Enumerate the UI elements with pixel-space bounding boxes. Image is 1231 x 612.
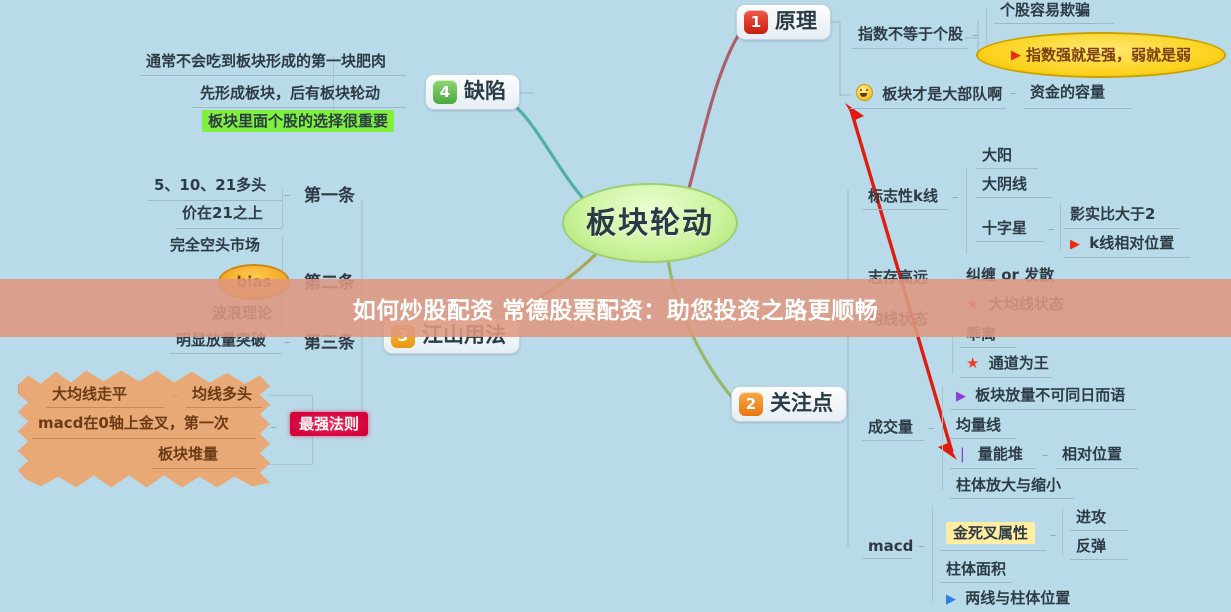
kline-child-3[interactable]: 十字星	[978, 219, 1031, 240]
branch-label-principle: 原理	[775, 10, 817, 33]
kline-child-1-rule	[976, 168, 1038, 169]
focus-kline[interactable]: 标志性k线	[864, 187, 942, 208]
focus-volume-rule	[862, 440, 924, 441]
kline-child-2[interactable]: 大阴线	[978, 175, 1031, 196]
branch-node-focus[interactable]: 2 关注点	[731, 386, 847, 422]
smiley-icon	[856, 84, 873, 101]
play-triangle-blue-icon: ▶	[946, 592, 956, 607]
usage-1a-rule	[148, 200, 282, 201]
volume-grandchild-1[interactable]: 相对位置	[1058, 445, 1126, 466]
usage-dash-3: –	[284, 335, 291, 350]
macd-grandchild-1[interactable]: 进攻	[1072, 508, 1110, 529]
law-child-3[interactable]: 板块堆量	[154, 445, 222, 466]
kline-child-2-rule	[976, 197, 1052, 198]
kline-child-3-rule	[976, 241, 1044, 242]
volume-child-4-rule	[950, 498, 1074, 499]
volume-child-3-dash: –	[1042, 448, 1049, 463]
volume-child-1[interactable]: ▶ 板块放量不可同日而语	[952, 386, 1129, 407]
macd-grandchild-2-rule	[1070, 559, 1128, 560]
focus-volume[interactable]: 成交量	[864, 418, 917, 439]
branch-label-defects: 缺陷	[464, 80, 506, 103]
defects-child-rule-1	[140, 75, 406, 76]
branch-label-focus: 关注点	[770, 392, 833, 415]
central-topic-label: 板块轮动	[586, 207, 714, 240]
play-triangle-red-icon: ▶	[1011, 49, 1021, 62]
central-topic: 板块轮动	[562, 183, 738, 263]
law-dash-1: –	[172, 388, 179, 403]
volume-child-3-label: 量能堆	[978, 445, 1023, 463]
ma-child-3-rule	[960, 347, 1016, 348]
principle-child-1-rule	[852, 48, 968, 49]
defects-child-rule-2	[192, 107, 406, 108]
macd-child-1-label: 金死叉属性	[946, 522, 1035, 544]
law-child-2-rule	[32, 438, 256, 439]
volume-child-3[interactable]: ❘ 量能堆	[952, 445, 1027, 466]
volume-child-2-rule	[950, 438, 1016, 439]
macd-child-2-rule	[940, 582, 1012, 583]
play-triangle-purple-icon: ▶	[956, 389, 966, 404]
defects-child-3-label: 板块里面个股的选择很重要	[202, 110, 394, 132]
defects-child-2[interactable]: 先形成板块，后有板块轮动	[196, 84, 384, 105]
ma-child-4-rule	[960, 377, 1052, 378]
law-child-1b-rule	[186, 407, 262, 408]
usage-3a-rule	[170, 353, 282, 354]
usage-2a[interactable]: 完全空头市场	[166, 236, 264, 257]
focus-macd[interactable]: macd	[864, 537, 917, 558]
kline-grandchild-1-rule	[1064, 228, 1180, 229]
kline-grandchild-2-label: k线相对位置	[1089, 234, 1174, 252]
macd-child-1-dash: –	[1050, 528, 1057, 543]
defects-child-3[interactable]: 板块里面个股的选择很重要	[198, 112, 398, 133]
kline-grandchild-1[interactable]: 影实比大于2	[1066, 205, 1159, 226]
principle-child-1b-label: 指数强就是强，弱就是弱	[1026, 47, 1191, 64]
kline-child-1[interactable]: 大阳	[978, 146, 1016, 167]
principle-child-2-rule	[850, 108, 1006, 109]
ma-child-4[interactable]: ★ 通道为王	[962, 354, 1053, 375]
principle-child-2a-rule	[1024, 108, 1132, 109]
kline-grandchild-2-rule	[1064, 257, 1190, 258]
usage-1a[interactable]: 5、10、21多头	[150, 176, 270, 197]
law-child-1-rule	[46, 407, 164, 408]
law-child-2[interactable]: macd在0轴上金叉，第一次	[34, 414, 233, 435]
law-child-1[interactable]: 大均线走平	[48, 385, 131, 406]
usage-1b[interactable]: 价在21之上	[178, 204, 267, 225]
volume-grandchild-1-rule	[1056, 468, 1138, 469]
kline-child-3-dash: –	[1048, 222, 1055, 237]
principle-child-1b[interactable]: ▶ 指数强就是强，弱就是弱	[976, 32, 1226, 78]
usage-item-1[interactable]: 第一条	[300, 186, 359, 209]
focus-macd-bracket	[932, 506, 949, 602]
law-dash-main: –	[270, 420, 277, 435]
macd-child-3-label: 两线与柱体位置	[965, 589, 1070, 607]
ma-child-4-label: 通道为王	[989, 354, 1049, 372]
branch-node-principle[interactable]: 1 原理	[736, 4, 831, 40]
focus-kline-rule	[862, 209, 948, 210]
principle-child-2[interactable]: 板块才是大部队啊	[852, 83, 1006, 106]
principle-child-2a[interactable]: 资金的容量	[1026, 83, 1109, 104]
principle-child-1a[interactable]: 个股容易欺骗	[996, 1, 1094, 22]
macd-grandchild-1-rule	[1070, 530, 1128, 531]
focus-macd-rule	[862, 558, 912, 559]
branch-badge-1: 1	[744, 10, 768, 34]
promo-banner-text: 如何炒股配资 常德股票配资：助您投资之路更顺畅	[353, 291, 879, 325]
principle-dash-2: –	[1010, 86, 1017, 101]
macd-child-3[interactable]: ▶ 两线与柱体位置	[942, 589, 1074, 610]
principle-child-1a-rule	[994, 23, 1114, 24]
strongest-law-label: 最强法则	[290, 412, 368, 436]
usage-dash-1: –	[284, 188, 291, 203]
macd-child-1-rule	[940, 550, 1046, 551]
principle-dash-1: –	[972, 28, 979, 43]
focus-volume-dash: –	[928, 421, 935, 436]
volume-child-4[interactable]: 柱体放大与缩小	[952, 476, 1065, 497]
play-triangle-red-icon-2: ▶	[1070, 237, 1080, 252]
strongest-law-node[interactable]: 最强法则	[286, 415, 372, 436]
branch-badge-2: 2	[739, 392, 763, 416]
volume-child-2[interactable]: 均量线	[952, 416, 1005, 437]
principle-child-1[interactable]: 指数不等于个股	[854, 25, 967, 46]
branch-node-defects[interactable]: 4 缺陷	[425, 74, 520, 110]
macd-child-2[interactable]: 柱体面积	[942, 560, 1010, 581]
promo-banner: 如何炒股配资 常德股票配资：助您投资之路更顺畅	[0, 279, 1231, 337]
volume-child-3-rule	[950, 468, 1036, 469]
focus-kline-dash: –	[952, 190, 959, 205]
macd-child-1[interactable]: 金死叉属性	[942, 524, 1039, 545]
volume-child-1-label: 板块放量不可同日而语	[975, 386, 1125, 404]
focus-macd-dash: –	[918, 539, 925, 554]
bar-purple-icon: ❘	[956, 445, 969, 463]
kline-grandchild-2[interactable]: ▶ k线相对位置	[1066, 234, 1178, 255]
macd-grandchild-2[interactable]: 反弹	[1072, 537, 1110, 558]
volume-child-1-rule	[950, 409, 1136, 410]
law-child-1b[interactable]: 均线多头	[188, 385, 256, 406]
branch-badge-4: 4	[433, 80, 457, 104]
usage-1b-rule	[176, 228, 282, 229]
law-child-3-rule	[152, 468, 256, 469]
star-red-icon: ★	[966, 354, 979, 372]
mindmap-canvas: 板块轮动 4 缺陷 通常不会吃到板块形成的第一块肥肉 先形成板块，后有板块轮动 …	[0, 0, 1231, 612]
principle-child-2-label: 板块才是大部队啊	[882, 85, 1002, 103]
defects-child-1[interactable]: 通常不会吃到板块形成的第一块肥肉	[142, 52, 390, 73]
